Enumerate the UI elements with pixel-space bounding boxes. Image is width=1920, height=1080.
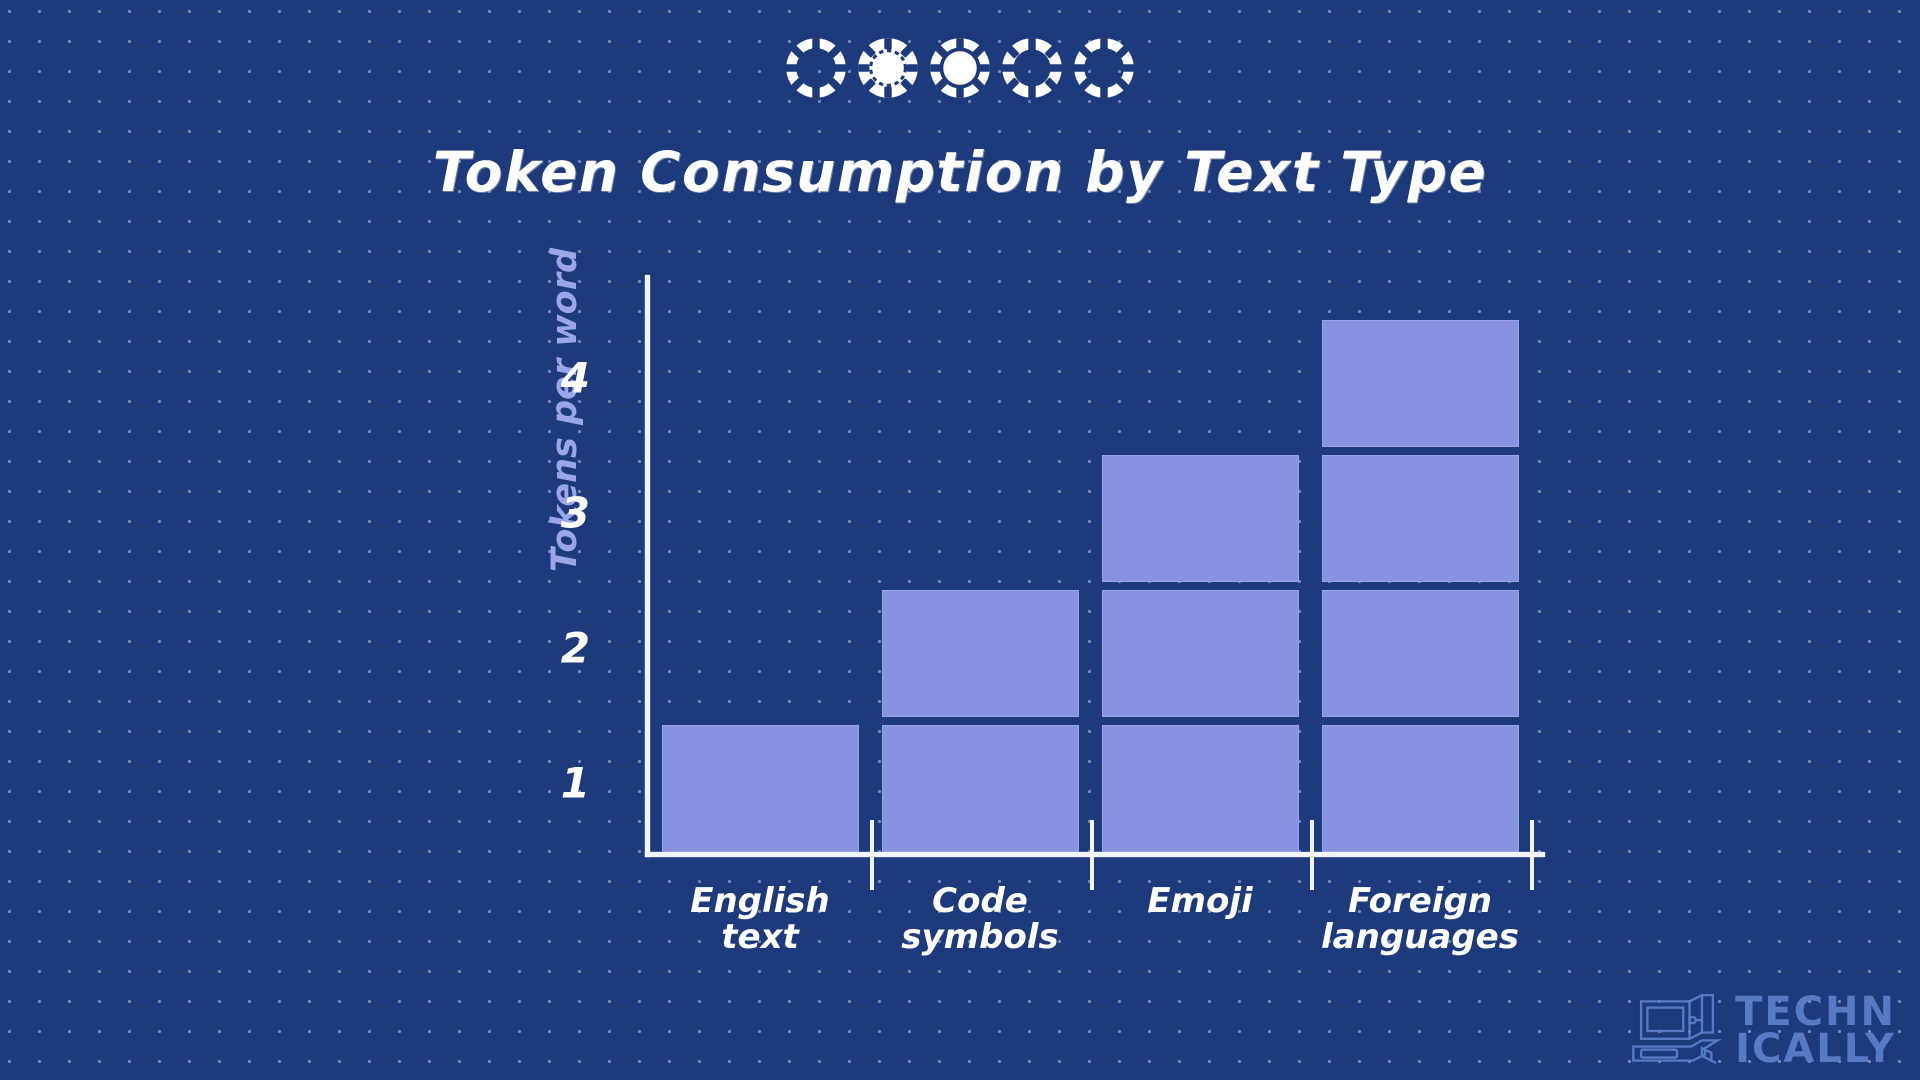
poker-chip-2-icon bbox=[857, 37, 919, 99]
bar-segment[interactable] bbox=[1322, 725, 1519, 852]
bar-segment[interactable] bbox=[1102, 590, 1299, 717]
poker-chip-4-icon bbox=[1001, 37, 1063, 99]
poker-chip-5-icon bbox=[1073, 37, 1135, 99]
bar-column[interactable] bbox=[662, 717, 859, 852]
retro-computer-icon bbox=[1629, 992, 1725, 1070]
y-axis-line bbox=[645, 275, 650, 857]
bar-column[interactable] bbox=[1322, 312, 1519, 852]
bar-segment[interactable] bbox=[882, 590, 1079, 717]
chart-canvas: Token Consumption by Text Type Tokens pe… bbox=[0, 0, 1920, 1080]
y-tick-label: 4 bbox=[530, 353, 590, 402]
plot-area: English textCode symbolsEmojiForeign lan… bbox=[645, 275, 1920, 855]
bar-segment[interactable] bbox=[1102, 725, 1299, 852]
poker-chip-3-icon bbox=[929, 37, 991, 99]
bar-segment[interactable] bbox=[1102, 455, 1299, 582]
x-axis-tick bbox=[1310, 820, 1314, 890]
poker-chip-1-icon bbox=[785, 37, 847, 99]
brand-logo: TECHN ICALLY bbox=[1629, 992, 1896, 1070]
poker-chip-row bbox=[0, 28, 1920, 108]
x-axis-line bbox=[645, 852, 1545, 857]
bar-column[interactable] bbox=[1102, 447, 1299, 852]
logo-wordmark: TECHN ICALLY bbox=[1735, 994, 1896, 1068]
bar-column[interactable] bbox=[882, 582, 1079, 852]
y-tick-label: 1 bbox=[530, 758, 590, 807]
bar-segment[interactable] bbox=[1322, 590, 1519, 717]
x-axis-tick bbox=[870, 820, 874, 890]
x-axis-tick bbox=[1090, 820, 1094, 890]
x-axis-tick bbox=[1530, 820, 1534, 890]
bar-segment[interactable] bbox=[882, 725, 1079, 852]
y-tick-label: 3 bbox=[530, 488, 590, 537]
x-category-label: Foreign languages bbox=[1260, 884, 1580, 955]
bar-segment[interactable] bbox=[1322, 455, 1519, 582]
chart-title: Token Consumption by Text Type bbox=[0, 140, 1920, 204]
logo-line-2: ICALLY bbox=[1735, 1031, 1896, 1068]
y-axis-title: Tokens per word bbox=[545, 200, 585, 620]
bar-segment[interactable] bbox=[662, 725, 859, 852]
y-tick-label: 2 bbox=[530, 623, 590, 672]
bar-segment[interactable] bbox=[1322, 320, 1519, 447]
